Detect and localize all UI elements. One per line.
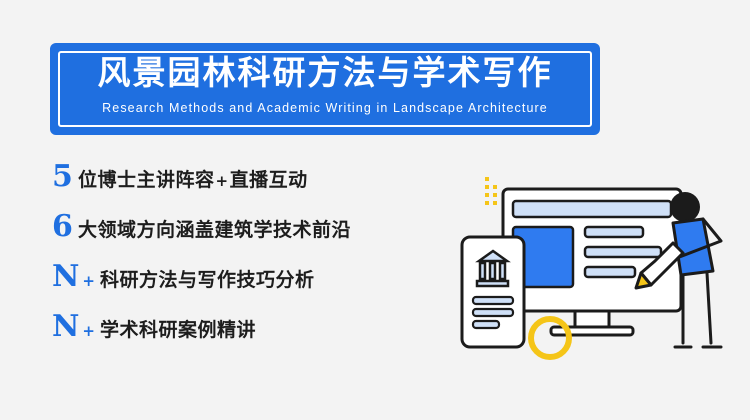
bullet-text: 科研方法与写作技巧分析 xyxy=(96,265,315,292)
list-item: 6 大领域方向涵盖建筑学技术前沿 xyxy=(52,210,472,260)
bullet-text: 学术科研案例精讲 xyxy=(96,315,256,342)
banner-title-chinese: 风景园林科研方法与学术写作 xyxy=(50,53,600,93)
bullet-mid-plus: + xyxy=(215,172,230,190)
list-item: N + 学术科研案例精讲 xyxy=(52,310,472,360)
yellow-ring-icon xyxy=(531,319,569,357)
bullet-text: 大领域方向涵盖建筑学技术前沿 xyxy=(74,215,351,242)
bullet-number: 6 xyxy=(52,210,74,244)
list-item: 5 位博士主讲阵容+直播互动 xyxy=(52,160,472,210)
dotted-accent-icon xyxy=(485,177,497,205)
bullet-number: N xyxy=(52,310,79,344)
bullet-number: 5 xyxy=(52,160,74,194)
illustration xyxy=(455,175,730,370)
bullet-text: 位博士主讲阵容+直播互动 xyxy=(74,165,308,192)
banner-title-english: Research Methods and Academic Writing in… xyxy=(50,101,600,115)
bullet-list: 5 位博士主讲阵容+直播互动 6 大领域方向涵盖建筑学技术前沿 N + 科研方法… xyxy=(52,160,472,360)
list-item: N + 科研方法与写作技巧分析 xyxy=(52,260,472,310)
bullet-number: N xyxy=(52,260,79,294)
bullet-plus: + xyxy=(79,322,96,340)
title-banner: 风景园林科研方法与学术写作 Research Methods and Acade… xyxy=(50,43,600,135)
smartphone-with-bank-icon xyxy=(462,237,524,347)
poster-canvas: 风景园林科研方法与学术写作 Research Methods and Acade… xyxy=(0,0,750,420)
bullet-plus: + xyxy=(79,272,96,290)
